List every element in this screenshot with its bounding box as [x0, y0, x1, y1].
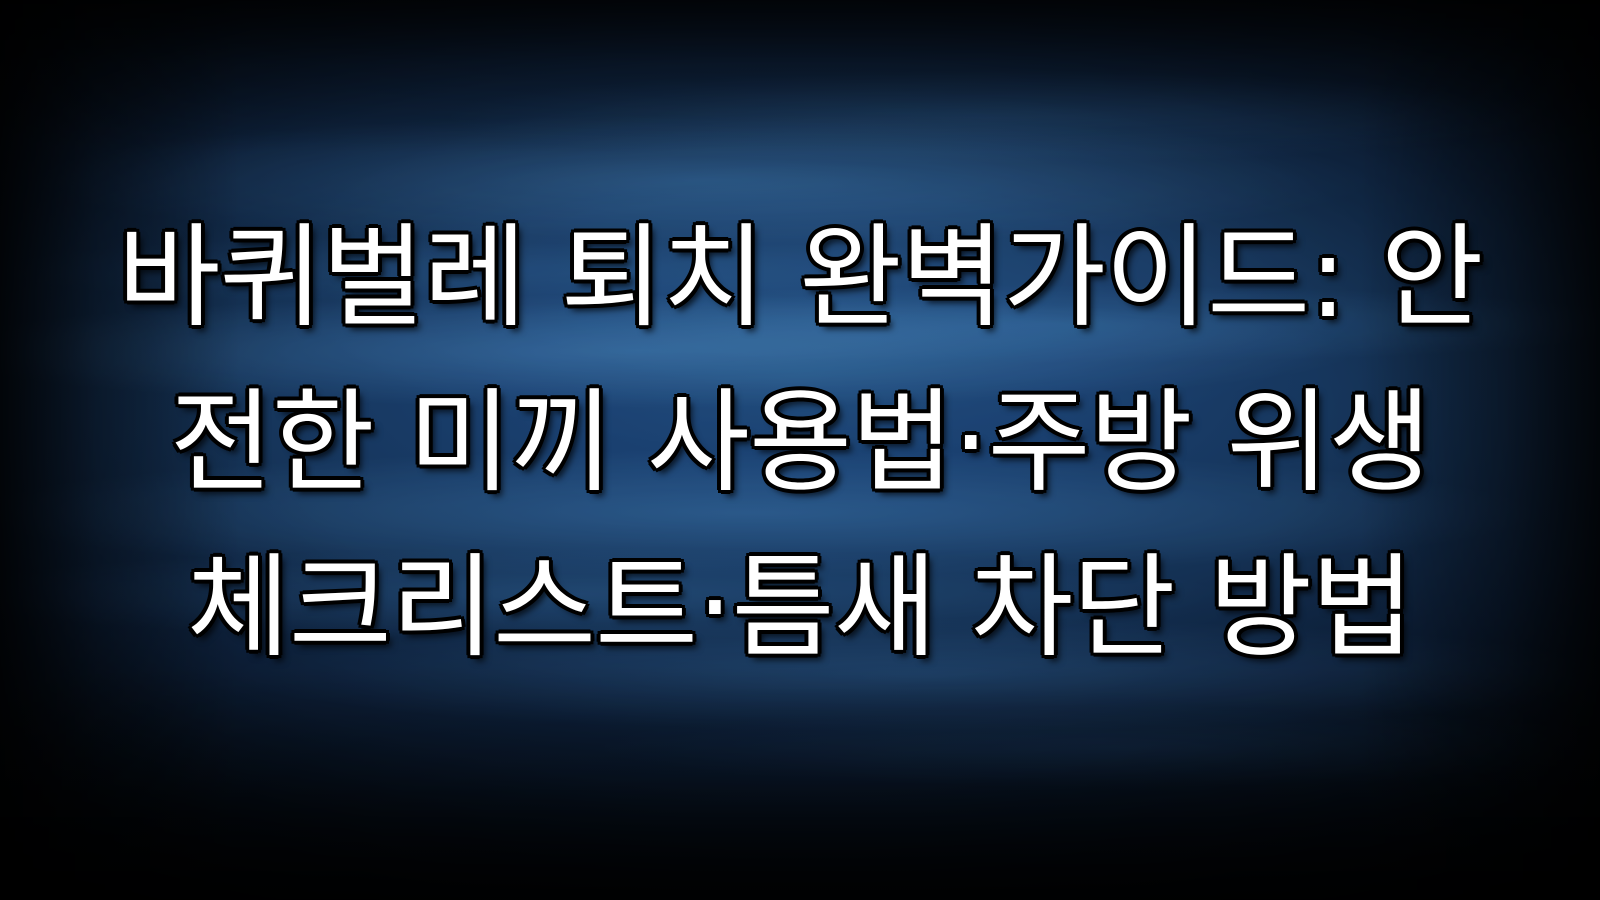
title-line-2: 전한 미끼 사용법·주방 위생	[0, 361, 1600, 526]
title-line-1: 바퀴벌레 퇴치 완벽가이드: 안	[0, 196, 1600, 361]
title-line-3: 체크리스트·틈새 차단 방법	[0, 526, 1600, 691]
title-card-canvas: 바퀴벌레 퇴치 완벽가이드: 안 전한 미끼 사용법·주방 위생 체크리스트·틈…	[0, 0, 1600, 900]
page-title: 바퀴벌레 퇴치 완벽가이드: 안 전한 미끼 사용법·주방 위생 체크리스트·틈…	[0, 196, 1600, 691]
